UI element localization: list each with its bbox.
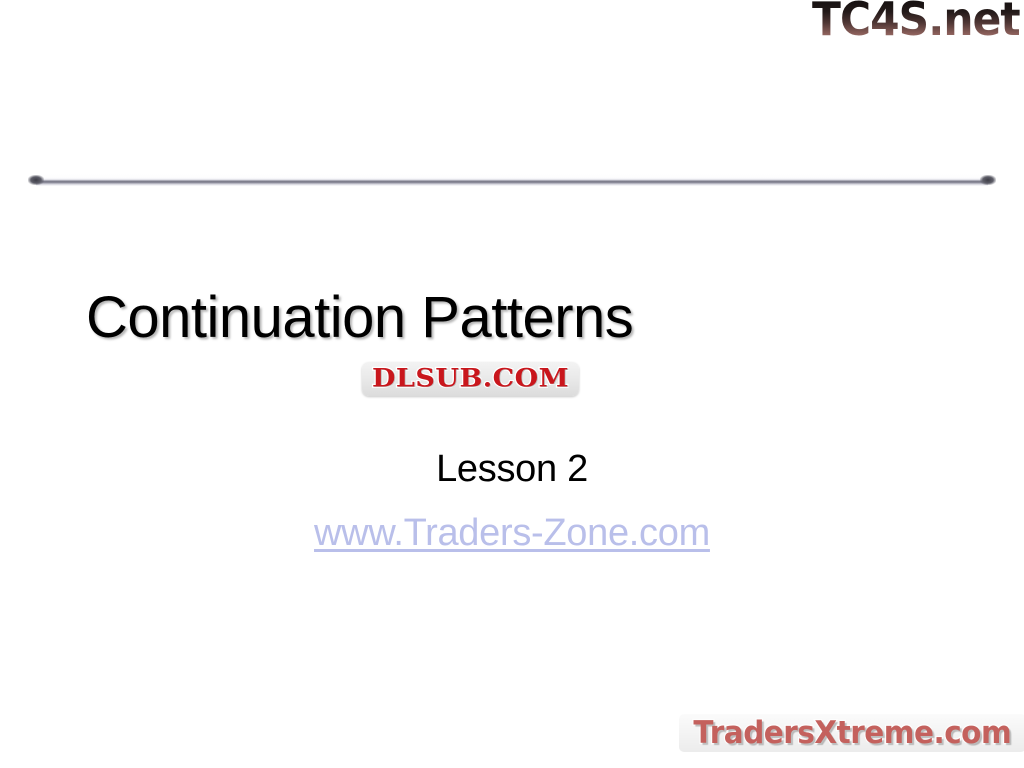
divider-bar (36, 174, 988, 186)
divider-cap-left (28, 175, 44, 185)
tradersxtreme-watermark: TradersXtreme.com (679, 714, 1024, 752)
divider-cap-right (980, 175, 996, 185)
slide-canvas: TC4S.net Continuation Patterns DLSUB.COM… (0, 0, 1024, 768)
tradersxtreme-watermark-label: TradersXtreme.com (694, 716, 1012, 750)
lesson-subtitle: Lesson 2 (0, 448, 1024, 491)
page-title: Continuation Patterns (86, 288, 633, 349)
dlsub-watermark-label: DLSUB.COM (372, 366, 569, 391)
dlsub-watermark: DLSUB.COM (362, 362, 579, 396)
tc4s-brand-logo: TC4S.net (812, 0, 1020, 42)
divider (28, 172, 996, 188)
website-link[interactable]: www.Traders-Zone.com (0, 512, 1024, 555)
